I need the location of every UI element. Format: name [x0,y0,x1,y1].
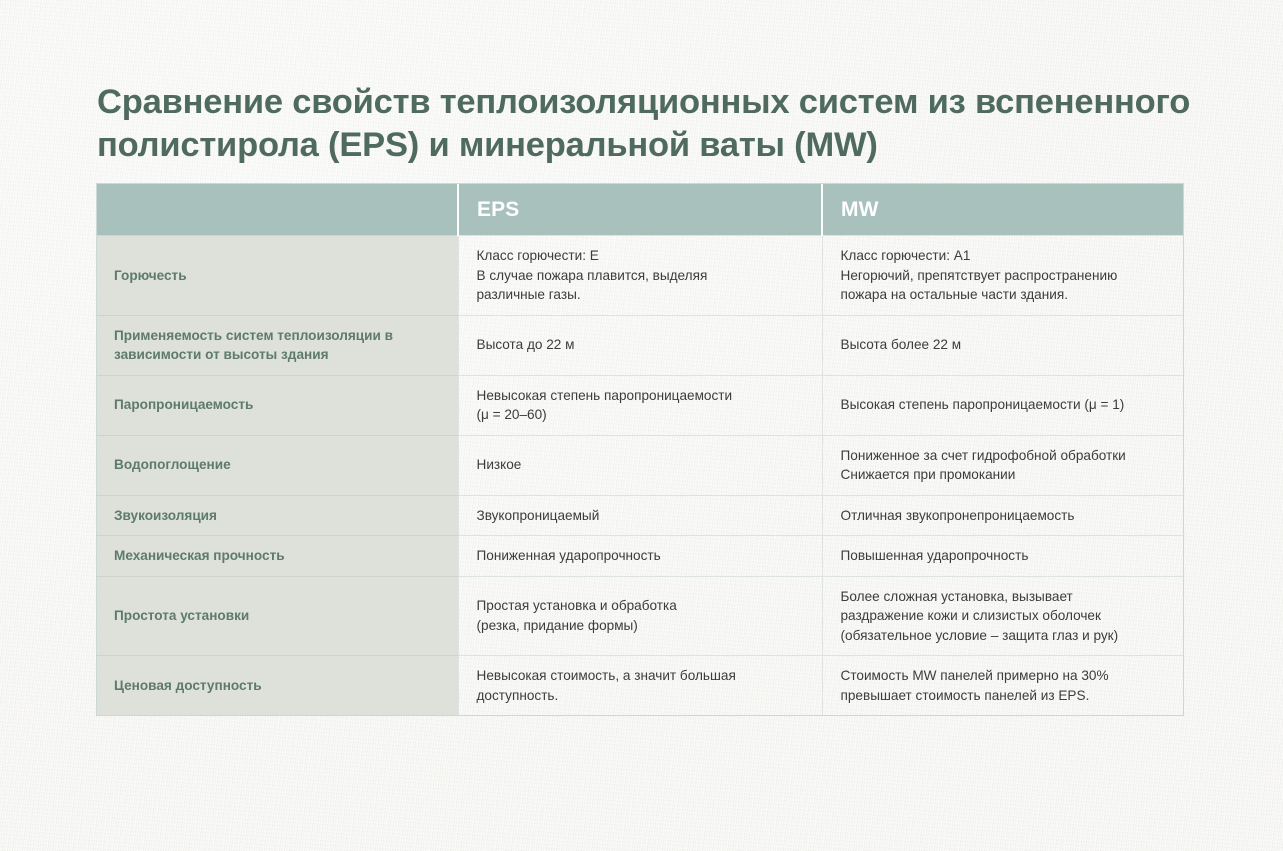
cell-text-line: доступность. [477,686,806,706]
cell-text-line: Негорючий, препятствует распространению [841,266,1168,286]
cell-text-line: Класс горючести: A1 [841,246,1168,266]
cell-text-line: превышает стоимость панелей из EPS. [841,686,1168,706]
table-body: ГорючестьКласс горючести: EВ случае пожа… [97,236,1183,716]
table-row: Простота установкиПростая установка и об… [97,576,1183,656]
cell-text-line: Снижается при промокании [841,465,1168,485]
cell-eps: Высота до 22 м [458,315,822,375]
cell-text-line: Низкое [477,455,806,475]
cell-text-line: (резка, придание формы) [477,616,806,636]
table-row: Применяемость систем теплоизоляции взави… [97,315,1183,375]
table-row: ЗвукоизоляцияЗвукопроницаемыйОтличная зв… [97,495,1183,536]
cell-text-line: (обязательное условие – защита глаз и ру… [841,626,1168,646]
cell-mw: Класс горючести: A1Негорючий, препятству… [822,236,1183,316]
row-label-cell: Ценовая доступность [97,656,458,716]
cell-eps: Звукопроницаемый [458,495,822,536]
table-row: ПаропроницаемостьНевысокая степень пароп… [97,375,1183,435]
page-title-line-2: полистирола (EPS) и минеральной ваты (MW… [97,124,1197,167]
cell-text-line: пожара на остальные части здания. [841,285,1168,305]
cell-eps: Невысокая степень паропроницаемости(μ = … [458,375,822,435]
cell-text-line: Пониженное за счет гидрофобной обработки [841,446,1168,466]
slide-page: Сравнение свойств теплоизоляционных сист… [0,0,1283,851]
cell-mw: Повышенная ударопрочность [822,536,1183,577]
comparison-table: EPS MW ГорючестьКласс горючести: EВ случ… [97,184,1183,715]
cell-text-line: различные газы. [477,285,806,305]
row-label-line: Звукоизоляция [114,506,442,526]
row-label-cell: Звукоизоляция [97,495,458,536]
row-label-cell: Механическая прочность [97,536,458,577]
cell-text-line: раздражение кожи и слизистых оболочек [841,606,1168,626]
row-label-cell: Водопоглощение [97,435,458,495]
cell-text-line: (μ = 20–60) [477,405,806,425]
cell-text-line: Отличная звукопронепроницаемость [841,506,1168,526]
table-header-row: EPS MW [97,184,1183,236]
cell-text-line: Звукопроницаемый [477,506,806,526]
cell-eps: Невысокая стоимость, а значит большаядос… [458,656,822,716]
table-row: Механическая прочностьПониженная ударопр… [97,536,1183,577]
cell-mw: Отличная звукопронепроницаемость [822,495,1183,536]
cell-eps: Простая установка и обработка(резка, при… [458,576,822,656]
row-label-line: Паропроницаемость [114,395,442,415]
cell-mw: Высокая степень паропроницаемости (μ = 1… [822,375,1183,435]
row-label-cell: Применяемость систем теплоизоляции взави… [97,315,458,375]
cell-text-line: Высота до 22 м [477,335,806,355]
cell-text-line: Пониженная ударопрочность [477,546,806,566]
row-label-line: зависимости от высоты здания [114,345,442,365]
cell-text-line: В случае пожара плавится, выделяя [477,266,806,286]
row-label-line: Ценовая доступность [114,676,442,696]
row-label-line: Механическая прочность [114,546,442,566]
row-label-line: Водопоглощение [114,455,442,475]
table-row: ГорючестьКласс горючести: EВ случае пожа… [97,236,1183,316]
cell-mw: Высота более 22 м [822,315,1183,375]
page-title: Сравнение свойств теплоизоляционных сист… [97,81,1197,167]
cell-text-line: Невысокая степень паропроницаемости [477,386,806,406]
column-header-eps: EPS [458,184,822,236]
column-header-mw: MW [822,184,1183,236]
cell-text-line: Более сложная установка, вызывает [841,587,1168,607]
cell-text-line: Высота более 22 м [841,335,1168,355]
cell-text-line: Невысокая стоимость, а значит большая [477,666,806,686]
cell-mw: Более сложная установка, вызываетраздраж… [822,576,1183,656]
row-label-cell: Паропроницаемость [97,375,458,435]
column-header-property [97,184,458,236]
cell-text-line: Повышенная ударопрочность [841,546,1168,566]
cell-text-line: Высокая степень паропроницаемости (μ = 1… [841,395,1168,415]
cell-text-line: Стоимость MW панелей примерно на 30% [841,666,1168,686]
cell-mw: Стоимость MW панелей примерно на 30%прев… [822,656,1183,716]
cell-text-line: Простая установка и обработка [477,596,806,616]
row-label-line: Применяемость систем теплоизоляции в [114,326,442,346]
row-label-line: Горючесть [114,266,442,286]
cell-eps: Класс горючести: EВ случае пожара плавит… [458,236,822,316]
cell-eps: Пониженная ударопрочность [458,536,822,577]
row-label-line: Простота установки [114,606,442,626]
cell-mw: Пониженное за счет гидрофобной обработки… [822,435,1183,495]
cell-eps: Низкое [458,435,822,495]
cell-text-line: Класс горючести: E [477,246,806,266]
table-row: ВодопоглощениеНизкоеПониженное за счет г… [97,435,1183,495]
row-label-cell: Простота установки [97,576,458,656]
table-header: EPS MW [97,184,1183,236]
page-title-line-1: Сравнение свойств теплоизоляционных сист… [97,81,1197,124]
row-label-cell: Горючесть [97,236,458,316]
table-row: Ценовая доступностьНевысокая стоимость, … [97,656,1183,716]
